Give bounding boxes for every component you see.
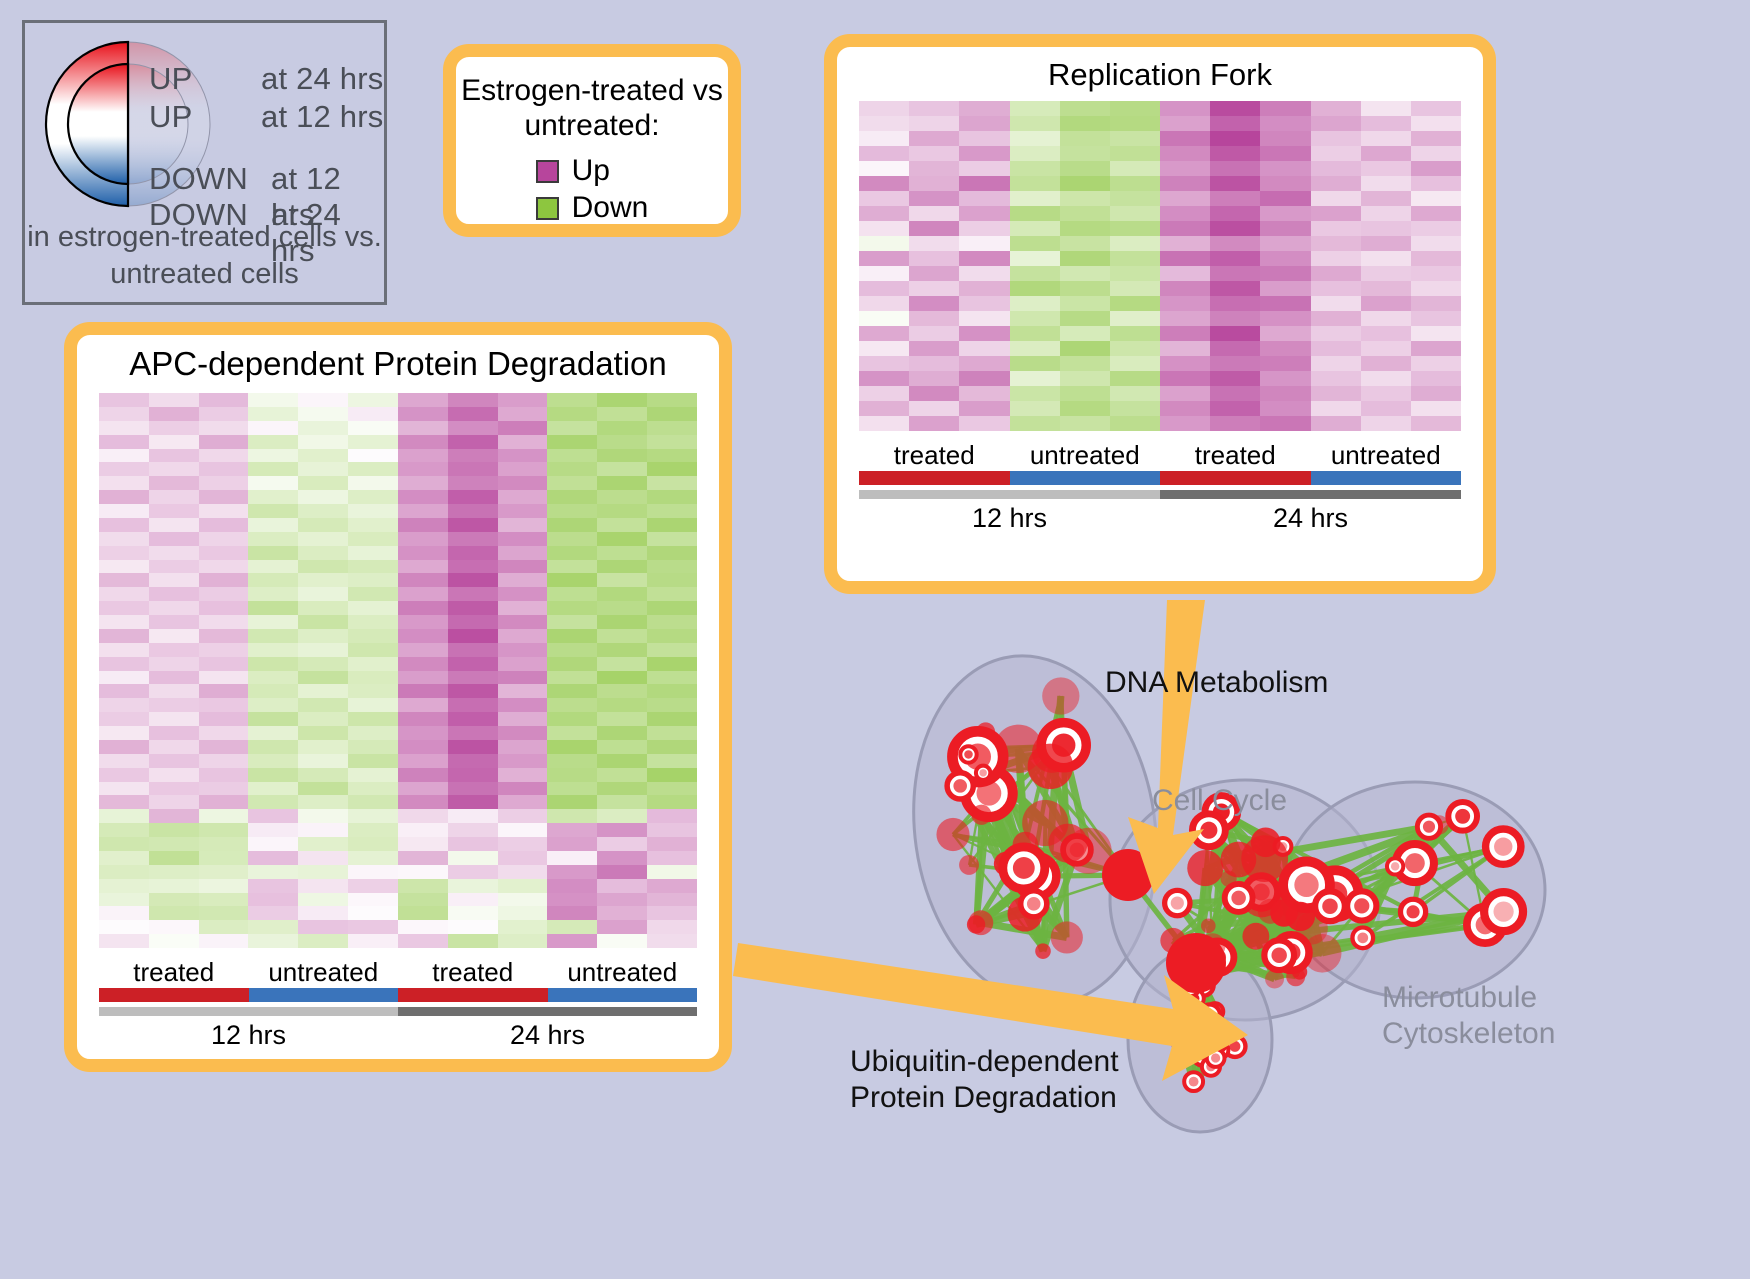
- heatmap-cell: [647, 393, 697, 407]
- heatmap-cell: [448, 726, 498, 740]
- network-node: [947, 773, 973, 799]
- heatmap-cell: [398, 573, 448, 587]
- heatmap-cell: [647, 504, 697, 518]
- heatmap-cell: [448, 809, 498, 823]
- network-node: [1042, 677, 1079, 714]
- network-node: [1242, 877, 1282, 917]
- heatmap-cell: [498, 518, 548, 532]
- heatmap-cell: [199, 518, 249, 532]
- down-color-swatch: [536, 197, 559, 220]
- heatmap-cell: [597, 726, 647, 740]
- heatmap-cell: [597, 712, 647, 726]
- network-edge: [1210, 1015, 1217, 1042]
- network-edge: [1266, 842, 1300, 972]
- heatmap-cell: [1311, 296, 1361, 311]
- network-node-core: [953, 779, 967, 793]
- heatmap-cell: [1060, 416, 1110, 431]
- network-node-core: [1197, 980, 1208, 991]
- heatmap-cell: [448, 615, 498, 629]
- heatmap-cell: [1411, 416, 1461, 431]
- heatmap-cell: [547, 671, 597, 685]
- network-node: [960, 746, 976, 762]
- heatmap-cell: [1361, 191, 1411, 206]
- network-node: [1003, 847, 1045, 889]
- network-node-core: [1202, 1039, 1210, 1047]
- network-node: [1312, 870, 1359, 917]
- heatmap-cell: [1110, 296, 1160, 311]
- heatmap-cell: [199, 795, 249, 809]
- heatmap-cell: [398, 740, 448, 754]
- heatmap-cell: [149, 407, 199, 421]
- network-node: [1242, 923, 1269, 950]
- heatmap-cell: [647, 906, 697, 920]
- heatmap-cell: [298, 698, 348, 712]
- heatmap-cell: [1010, 266, 1060, 281]
- heatmap-cell: [647, 560, 697, 574]
- network-edge: [1213, 812, 1222, 946]
- replication-fork-time-bar: [859, 490, 1461, 499]
- heatmap-cell: [348, 490, 398, 504]
- heatmap-cell: [1160, 236, 1210, 251]
- heatmap-cell: [149, 601, 199, 615]
- heatmap-cell: [398, 698, 448, 712]
- heatmap-cell: [547, 768, 597, 782]
- heatmap-cell: [348, 546, 398, 560]
- heatmap-cell: [199, 671, 249, 685]
- network-edge: [1218, 860, 1239, 958]
- heatmap-cell: [1411, 191, 1461, 206]
- network-node-core: [1013, 857, 1035, 879]
- heatmap-cell: [1260, 356, 1310, 371]
- heatmap-cell: [547, 698, 597, 712]
- heatmap-cell: [1160, 341, 1210, 356]
- heatmap-cell: [448, 920, 498, 934]
- heatmap-cell: [597, 740, 647, 754]
- network-edge: [1036, 875, 1128, 876]
- heatmap-cell: [398, 449, 448, 463]
- heatmap-cell: [348, 684, 398, 698]
- network-node-core: [1423, 821, 1435, 833]
- heatmap-cell: [248, 865, 298, 879]
- network-edge: [1024, 868, 1025, 914]
- heatmap-cell: [149, 865, 199, 879]
- heatmap-cell: [959, 251, 1009, 266]
- heatmap-cell: [498, 476, 548, 490]
- network-node: [1270, 899, 1298, 927]
- heatmap-cell: [498, 879, 548, 893]
- network-edge: [1322, 912, 1503, 954]
- heatmap-cell: [1260, 236, 1310, 251]
- network-edge: [969, 865, 1022, 871]
- heatmap-cell: [647, 573, 697, 587]
- heatmap-cell: [298, 504, 348, 518]
- network-edge: [1415, 816, 1463, 863]
- heatmap-cell: [99, 435, 149, 449]
- heatmap-cell: [1411, 281, 1461, 296]
- heatmap-cell: [199, 476, 249, 490]
- network-edge: [1270, 911, 1311, 928]
- heatmap-cell: [647, 754, 697, 768]
- network-edge: [1024, 868, 1036, 876]
- heatmap-cell: [248, 754, 298, 768]
- network-edge: [1173, 897, 1262, 940]
- network-edge: [1018, 749, 1023, 868]
- network-edge: [1208, 916, 1300, 925]
- network-node-core: [1171, 896, 1184, 909]
- network-edge: [1261, 892, 1270, 911]
- heatmap-cell: [99, 560, 149, 574]
- network-edge: [1415, 827, 1429, 863]
- network-edge: [1024, 868, 1043, 951]
- heatmap-cell: [1060, 146, 1110, 161]
- heatmap-cell: [149, 726, 199, 740]
- network-node: [1002, 851, 1042, 891]
- heatmap-cell: [1210, 236, 1260, 251]
- heatmap-cell: [298, 712, 348, 726]
- heatmap-cell: [298, 643, 348, 657]
- network-edge: [1284, 913, 1300, 916]
- network-node: [1274, 838, 1291, 855]
- heatmap-cell: [99, 837, 149, 851]
- heatmap-cell: [398, 518, 448, 532]
- heatmap-cell: [1110, 221, 1160, 236]
- heatmap-cell: [398, 768, 448, 782]
- heatmap-cell: [547, 684, 597, 698]
- heatmap-cell: [298, 518, 348, 532]
- heatmap-cell: [149, 462, 199, 476]
- heatmap-cell: [498, 740, 548, 754]
- heatmap-cell: [348, 851, 398, 865]
- heatmap-cell: [1160, 161, 1210, 176]
- heatmap-cell: [1260, 191, 1310, 206]
- heatmap-cell: [647, 490, 697, 504]
- heatmap-cell: [298, 823, 348, 837]
- heatmap-cell: [199, 615, 249, 629]
- network-edge: [981, 745, 1063, 815]
- network-edge: [1238, 827, 1429, 860]
- network-node: [1221, 870, 1237, 886]
- heatmap-cell: [1311, 326, 1361, 341]
- heatmap-cell: [498, 768, 548, 782]
- heatmap-cell: [1110, 311, 1160, 326]
- network-edge: [1291, 916, 1300, 952]
- condition-label: treated: [859, 440, 1010, 471]
- heatmap-cell: [1311, 371, 1361, 386]
- heatmap-cell: [348, 782, 398, 796]
- heatmap-cell: [99, 726, 149, 740]
- heatmap-cell: [597, 684, 647, 698]
- network-node: [1429, 815, 1448, 834]
- network-edge: [976, 904, 1034, 925]
- heatmap-cell: [199, 462, 249, 476]
- network-edge: [1196, 963, 1296, 977]
- heatmap-cell: [298, 934, 348, 948]
- network-node: [1224, 1036, 1245, 1057]
- heatmap-cell: [99, 851, 149, 865]
- network-node: [1187, 850, 1223, 886]
- heatmap-cell: [99, 504, 149, 518]
- network-edge: [1307, 885, 1323, 953]
- heatmap-cell: [298, 490, 348, 504]
- network-edge: [1330, 847, 1503, 907]
- heatmap-cell: [398, 906, 448, 920]
- heatmap-cell: [298, 615, 348, 629]
- network-node-core: [1294, 873, 1318, 897]
- network-edge: [1218, 812, 1222, 957]
- network-node-core: [1253, 884, 1270, 901]
- heatmap-cell: [859, 101, 909, 116]
- network-node: [994, 852, 1018, 876]
- heatmap-cell: [149, 435, 199, 449]
- heatmap-cell: [298, 671, 348, 685]
- heatmap-cell: [298, 560, 348, 574]
- heatmap-cell: [959, 281, 1009, 296]
- network-node: [1448, 802, 1477, 831]
- network-node: [971, 805, 991, 825]
- key-item-up: Up: [536, 154, 649, 188]
- heatmap-cell: [597, 587, 647, 601]
- heatmap-cell: [348, 421, 398, 435]
- network-node: [1192, 974, 1213, 995]
- heatmap-cell: [647, 671, 697, 685]
- heatmap-cell: [1361, 311, 1411, 326]
- network-node-core: [1204, 1009, 1215, 1020]
- network-edge: [976, 844, 1025, 924]
- figure-canvas: UP at 24 hrs UP at 12 hrs DOWN at 12 hrs…: [0, 0, 1750, 1279]
- heatmap-cell: [1411, 176, 1461, 191]
- heatmap-cell: [647, 837, 697, 851]
- heatmap-cell: [909, 116, 959, 131]
- network-edge: [1221, 812, 1279, 955]
- network-node: [1286, 967, 1305, 986]
- heatmap-cell: [398, 421, 448, 435]
- network-edge: [1025, 844, 1128, 875]
- network-edge: [1006, 864, 1067, 938]
- heatmap-cell: [1060, 116, 1110, 131]
- network-node: [1295, 912, 1327, 944]
- heatmap-cell: [248, 435, 298, 449]
- network-node: [1160, 928, 1186, 954]
- heatmap-cell: [348, 407, 398, 421]
- heatmap-cell: [398, 407, 448, 421]
- heatmap-cell: [348, 823, 398, 837]
- network-edge: [1262, 897, 1270, 911]
- heatmap-cell: [909, 371, 959, 386]
- heatmap-cell: [1260, 161, 1310, 176]
- heatmap-cell: [348, 671, 398, 685]
- network-edge: [1238, 860, 1322, 954]
- heatmap-cell: [149, 629, 199, 643]
- heatmap-cell: [547, 601, 597, 615]
- heatmap-cell: [859, 296, 909, 311]
- network-edge: [1185, 1014, 1220, 1050]
- heatmap-cell: [248, 518, 298, 532]
- heatmap-cell: [909, 356, 959, 371]
- heatmap-cell: [597, 573, 647, 587]
- heatmap-cell: [99, 573, 149, 587]
- network-edge: [981, 923, 1067, 938]
- network-node-core: [1323, 882, 1347, 906]
- heatmap-cell: [498, 504, 548, 518]
- heatmap-cell: [149, 657, 199, 671]
- heatmap-cell: [298, 782, 348, 796]
- network-edge: [1034, 904, 1043, 951]
- heatmap-cell: [647, 726, 697, 740]
- heatmap-cell: [398, 795, 448, 809]
- heatmap-cell: [448, 601, 498, 615]
- heatmap-cell: [99, 865, 149, 879]
- heatmap-cell: [1210, 146, 1260, 161]
- heatmap-cell: [959, 311, 1009, 326]
- heatmap-cell: [859, 221, 909, 236]
- network-edge: [1229, 879, 1300, 972]
- heatmap-cell: [448, 851, 498, 865]
- network-edge: [1196, 812, 1221, 963]
- heatmap-cell: [448, 795, 498, 809]
- network-edge: [968, 745, 1063, 754]
- heatmap-cell: [1110, 251, 1160, 266]
- key-title: Estrogen-treated vs untreated:: [456, 73, 728, 143]
- network-edge: [1218, 846, 1283, 957]
- network-edge: [1218, 916, 1301, 957]
- heatmap-cell: [498, 920, 548, 934]
- heatmap-cell: [959, 101, 1009, 116]
- heatmap-cell: [859, 311, 909, 326]
- network-edge: [1177, 903, 1295, 977]
- heatmap-cell: [149, 879, 199, 893]
- network-node-core: [1200, 822, 1217, 839]
- network-edge: [1018, 749, 1077, 850]
- heatmap-cell: [859, 416, 909, 431]
- heatmap-cell: [498, 851, 548, 865]
- heatmap-cell: [149, 490, 199, 504]
- heatmap-cell: [298, 532, 348, 546]
- network-edge: [1196, 859, 1265, 963]
- heatmap-cell: [348, 601, 398, 615]
- heatmap-cell: [498, 462, 548, 476]
- heatmap-cell: [547, 782, 597, 796]
- heatmap-cell: [1160, 401, 1210, 416]
- network-edge: [1415, 863, 1485, 925]
- heatmap-cell: [248, 768, 298, 782]
- heatmap-cell: [959, 131, 1009, 146]
- heatmap-cell: [1060, 311, 1110, 326]
- network-edge: [1173, 859, 1265, 941]
- network-node-core: [1282, 943, 1301, 962]
- heatmap-cell: [199, 421, 249, 435]
- heatmap-cell: [498, 823, 548, 837]
- network-node: [1032, 733, 1072, 773]
- network-edge: [1190, 985, 1203, 1009]
- heatmap-cell: [1210, 386, 1260, 401]
- heatmap-cell: [959, 386, 1009, 401]
- network-edge: [1194, 846, 1283, 977]
- heatmap-cell: [859, 266, 909, 281]
- network-edge: [990, 748, 1026, 845]
- network-edge: [1270, 911, 1279, 955]
- heatmap-cell: [1210, 296, 1260, 311]
- heatmap-cell: [199, 768, 249, 782]
- heatmap-cell: [1010, 386, 1060, 401]
- network-node: [1292, 964, 1307, 979]
- heatmap-cell: [498, 754, 548, 768]
- heatmap-cell: [498, 726, 548, 740]
- network-node-core: [965, 744, 991, 770]
- network-edge: [1283, 846, 1335, 893]
- network-edge: [1196, 963, 1210, 1015]
- network-edge: [1291, 898, 1485, 925]
- heatmap-cell: [398, 837, 448, 851]
- heatmap-cell: [398, 712, 448, 726]
- network-edge: [1196, 860, 1238, 963]
- heatmap-cell: [448, 476, 498, 490]
- network-edge: [1196, 925, 1485, 963]
- network-edge: [1218, 957, 1275, 979]
- heatmap-cell: [1160, 326, 1210, 341]
- network-edge: [1210, 1015, 1235, 1046]
- heatmap-cell: [199, 823, 249, 837]
- heatmap-cell: [149, 823, 199, 837]
- heatmap-cell: [498, 615, 548, 629]
- apc-heatmap: [99, 393, 697, 948]
- heatmap-cell: [597, 795, 647, 809]
- heatmap-cell: [647, 462, 697, 476]
- heatmap-cell: [1160, 176, 1210, 191]
- heatmap-cell: [547, 754, 597, 768]
- heatmap-cell: [498, 573, 548, 587]
- heatmap-cell: [647, 684, 697, 698]
- heatmap-cell: [298, 421, 348, 435]
- network-edge: [1195, 998, 1216, 1058]
- heatmap-cell: [597, 449, 647, 463]
- network-node-core: [1211, 1053, 1220, 1062]
- heatmap-cell: [348, 657, 398, 671]
- network-edge: [1194, 953, 1322, 977]
- heatmap-cell: [1210, 311, 1260, 326]
- heatmap-cell: [498, 865, 548, 879]
- heatmap-cell: [547, 795, 597, 809]
- network-node: [1286, 902, 1315, 931]
- network-edge: [1194, 936, 1255, 977]
- network-node: [1206, 1031, 1227, 1052]
- heatmap-cell: [547, 462, 597, 476]
- heatmap-cell: [647, 851, 697, 865]
- heatmap-cell: [859, 401, 909, 416]
- heatmap-cell: [1311, 236, 1361, 251]
- heatmap-cell: [1060, 266, 1110, 281]
- heatmap-cell: [859, 371, 909, 386]
- heatmap-cell: [1010, 176, 1060, 191]
- network-node-core: [1178, 1039, 1188, 1049]
- heatmap-cell: [1210, 371, 1260, 386]
- heatmap-cell: [348, 740, 398, 754]
- heatmap-cell: [647, 934, 697, 948]
- network-edge: [1261, 892, 1279, 955]
- network-edge: [1221, 812, 1311, 928]
- heatmap-cell: [859, 341, 909, 356]
- heatmap-cell: [647, 476, 697, 490]
- network-edge: [1413, 912, 1485, 925]
- heatmap-cell: [99, 476, 149, 490]
- heatmap-cell: [199, 865, 249, 879]
- heatmap-cell: [248, 920, 298, 934]
- network-edge: [960, 786, 1043, 951]
- network-edge: [1322, 906, 1362, 953]
- heatmap-cell: [398, 546, 448, 560]
- heatmap-cell: [1361, 116, 1411, 131]
- heatmap-cell: [597, 823, 647, 837]
- heatmap-cell: [1010, 131, 1060, 146]
